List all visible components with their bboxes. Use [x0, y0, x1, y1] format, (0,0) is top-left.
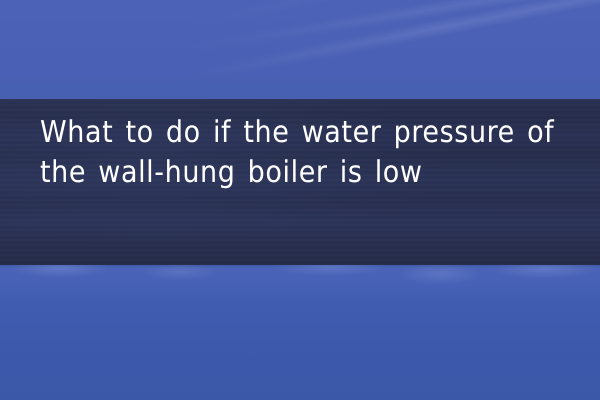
screenshot-canvas: What to do if the water pressure of the … [0, 0, 600, 400]
cloud-streaks-decoration [0, 0, 600, 110]
page-title: What to do if the water pressure of the … [40, 113, 592, 193]
water-highlight-decoration [0, 262, 600, 312]
